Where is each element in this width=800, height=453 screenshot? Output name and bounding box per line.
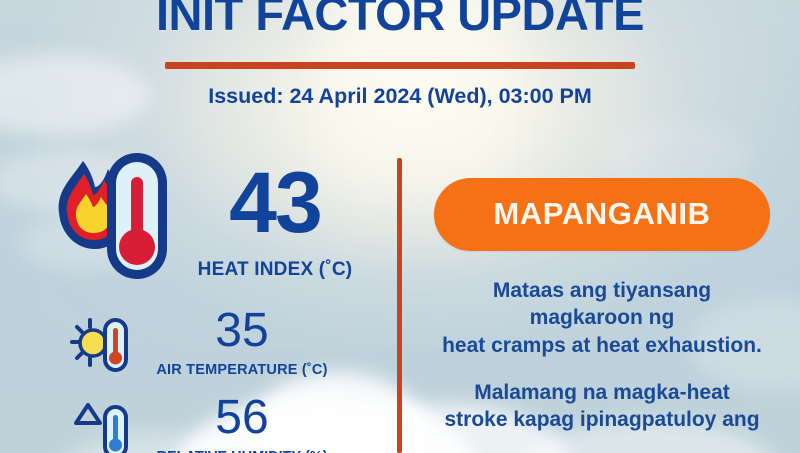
metric-heat-index: 43 HEAT INDEX (˚C) [0,145,392,290]
metric-air-temperature-value: 35 [215,308,268,354]
flame-thermometer-icon [50,147,176,290]
metric-heat-index-value: 43 [229,163,321,245]
advisory-paragraph: Mataas ang tiyansangmagkaroon ngheat cra… [404,277,800,359]
title-divider-rule [165,62,635,69]
advisory-column: MAPANGANIB Mataas ang tiyansangmagkaroon… [404,178,800,433]
issued-timestamp: Issued: 24 April 2024 (Wed), 03:00 PM [0,84,800,109]
metric-relative-humidity: 56 RELATIVE HUMIDITY (%) [0,395,392,453]
sun-thermometer-icon [68,314,132,381]
status-badge-danger-level[interactable]: MAPANGANIB [434,178,770,251]
advisory-text-block: Mataas ang tiyansangmagkaroon ngheat cra… [404,277,800,433]
metric-heat-index-label: HEAT INDEX (˚C) [198,259,353,281]
advisory-paragraph: Malamang na magka-heatstroke kapag ipina… [404,379,800,434]
column-divider-rule [397,158,402,453]
humidity-droplet-icon [68,401,132,453]
metric-air-temperature: 35 AIR TEMPERATURE (˚C) [0,308,392,381]
metric-relative-humidity-text: 56 RELATIVE HUMIDITY (%) [156,395,327,453]
metric-air-temperature-label: AIR TEMPERATURE (˚C) [156,362,327,378]
metric-relative-humidity-label: RELATIVE HUMIDITY (%) [156,449,327,453]
metric-heat-index-text: 43 HEAT INDEX (˚C) [198,163,353,281]
heat-index-advisory-poster: INIT FACTOR UPDATE Issued: 24 April 2024… [0,0,800,453]
metric-relative-humidity-value: 56 [215,395,268,441]
metrics-column: 43 HEAT INDEX (˚C) [0,145,392,453]
metric-air-temperature-text: 35 AIR TEMPERATURE (˚C) [156,308,327,378]
poster-header: INIT FACTOR UPDATE Issued: 24 April 2024… [0,0,800,109]
page-title: INIT FACTOR UPDATE [0,0,800,37]
